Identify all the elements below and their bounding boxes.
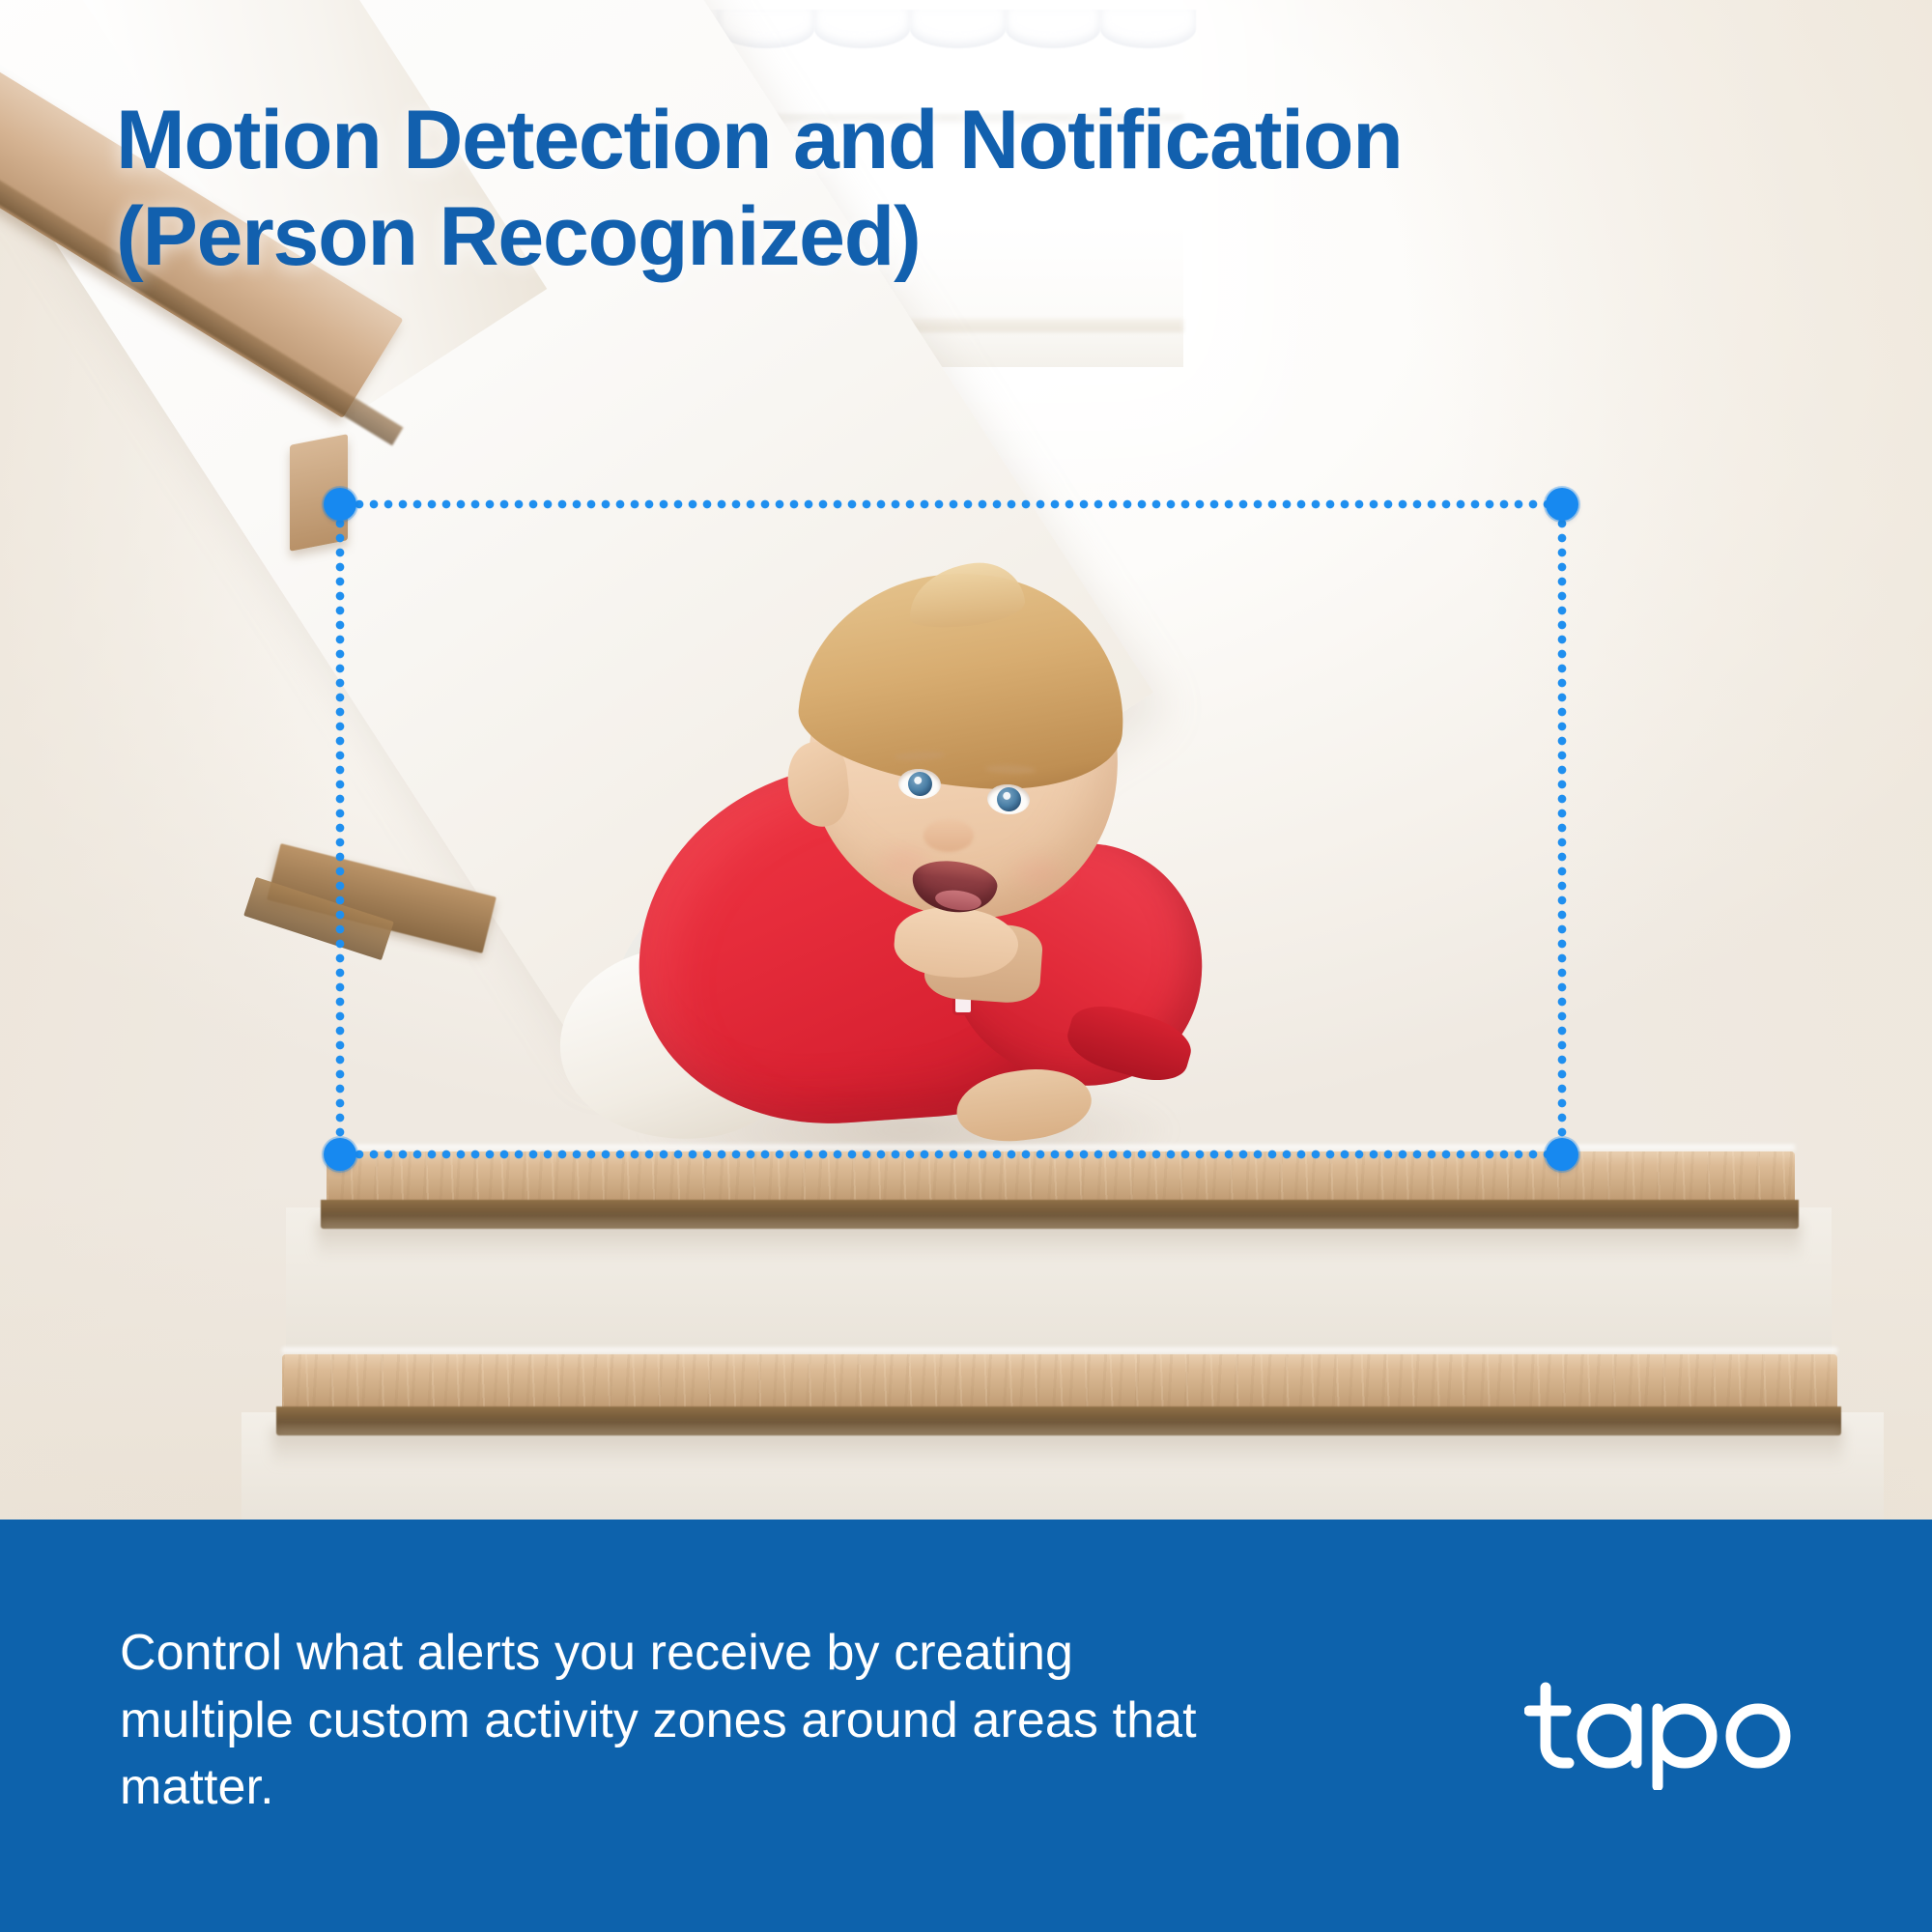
scene-photo: Motion Detection and Notification (Perso…	[0, 0, 1932, 1521]
tapo-logo	[1524, 1674, 1814, 1795]
tread-grain	[282, 1354, 1837, 1408]
footer-bar: Control what alerts you receive by creat…	[0, 1520, 1932, 1932]
detection-zone[interactable]	[340, 504, 1562, 1154]
tapo-wordmark-svg	[1524, 1674, 1814, 1790]
valance-scallop	[1100, 10, 1196, 48]
footer-description: Control what alerts you receive by creat…	[120, 1620, 1197, 1832]
stair-step-lower	[282, 1354, 1837, 1408]
zone-handle-top-right[interactable]	[1546, 488, 1578, 521]
valance-scallop	[910, 10, 1006, 48]
page-title: Motion Detection and Notification (Perso…	[116, 93, 1623, 286]
valance-scallop	[1006, 10, 1101, 48]
zone-edge-top[interactable]	[340, 499, 1562, 509]
zone-edge-right[interactable]	[1557, 504, 1567, 1154]
zone-handle-bottom-left[interactable]	[324, 1138, 356, 1171]
valance-scallop	[719, 10, 814, 48]
zone-handle-top-left[interactable]	[324, 488, 356, 521]
zone-edge-left[interactable]	[335, 504, 345, 1154]
valance-scallop	[814, 10, 910, 48]
tread-riser-shadow	[272, 1428, 1843, 1466]
feature-card: Motion Detection and Notification (Perso…	[0, 0, 1932, 1932]
zone-edge-bottom[interactable]	[340, 1150, 1562, 1159]
zone-handle-bottom-right[interactable]	[1546, 1138, 1578, 1171]
tread-riser-shadow	[317, 1221, 1801, 1260]
